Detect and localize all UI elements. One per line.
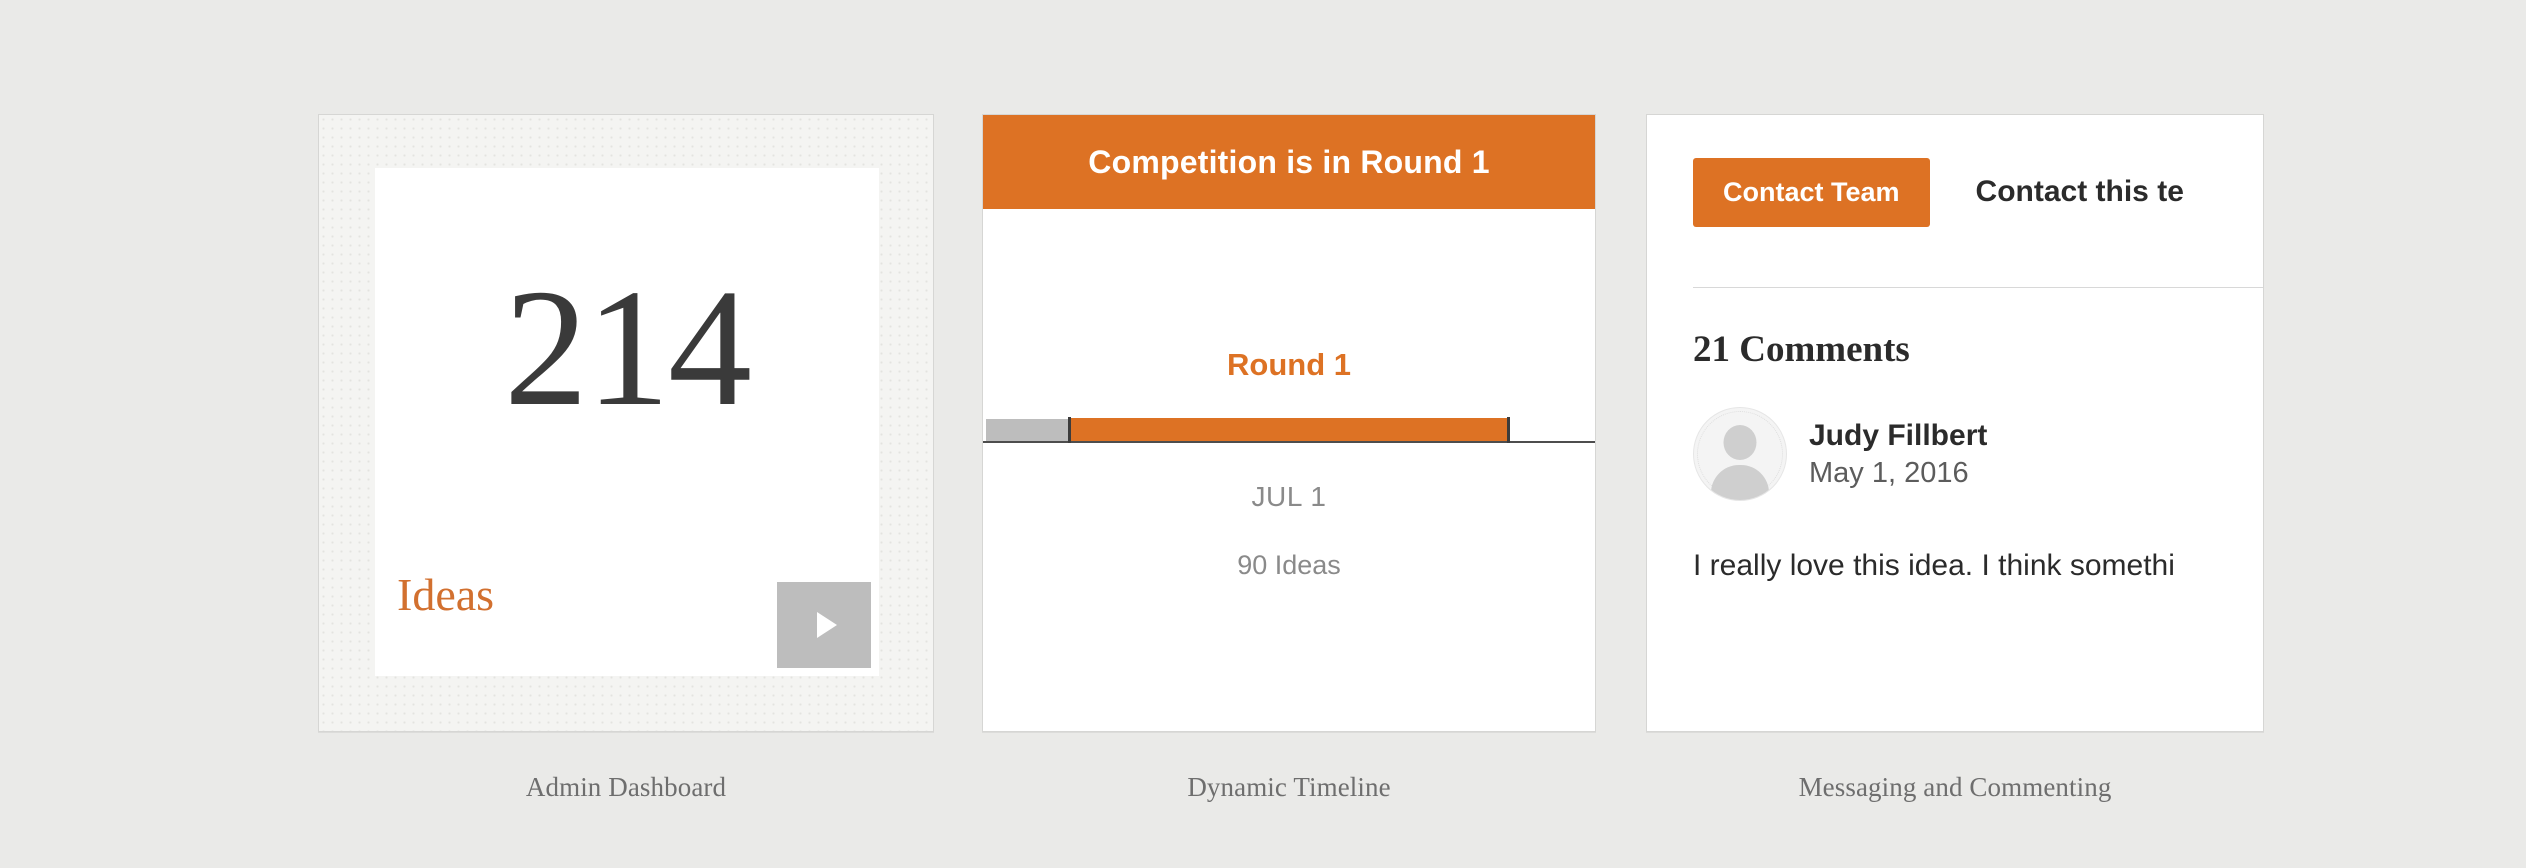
card-messaging-commenting[interactable]: Contact Team Contact this te 21 Comments… bbox=[1646, 114, 2264, 732]
admin-metric-panel: 214 Ideas bbox=[375, 168, 879, 676]
messaging-toolbar: Contact Team Contact this te bbox=[1647, 153, 2264, 231]
comment-author: Judy Fillbert bbox=[1809, 419, 1987, 453]
card-admin-dashboard[interactable]: 214 Ideas bbox=[318, 114, 934, 732]
contact-hint-text: Contact this te bbox=[1976, 175, 2184, 209]
timeline-tick-start bbox=[1068, 417, 1071, 443]
feature-card-gallery: 214 Ideas Admin Dashboard Competition is… bbox=[0, 0, 2526, 868]
timeline-tick-end bbox=[1507, 417, 1510, 443]
timeline-round-label: Round 1 bbox=[983, 347, 1595, 383]
timeline-segment-current bbox=[1069, 418, 1509, 441]
comments-count-heading: 21 Comments bbox=[1693, 328, 1910, 371]
caption-dynamic-timeline: Dynamic Timeline bbox=[982, 772, 1596, 803]
comment-meta: Judy Fillbert May 1, 2016 bbox=[1809, 419, 1987, 489]
avatar-head-icon bbox=[1724, 425, 1757, 460]
avatar bbox=[1693, 407, 1787, 501]
caption-messaging-commenting: Messaging and Commenting bbox=[1646, 772, 2264, 803]
play-triangle-icon bbox=[817, 612, 837, 638]
toolbar-divider bbox=[1693, 287, 2264, 288]
comment-text: I really love this idea. I think somethi bbox=[1693, 549, 2175, 583]
timeline-progress-bar[interactable] bbox=[983, 417, 1595, 447]
comment-item: Judy Fillbert May 1, 2016 bbox=[1693, 407, 1987, 501]
card-dynamic-timeline[interactable]: Competition is in Round 1 Round 1 JUL 1 … bbox=[982, 114, 1596, 732]
contact-team-button[interactable]: Contact Team bbox=[1693, 158, 1930, 227]
timeline-segment-past bbox=[986, 419, 1068, 441]
timeline-axis bbox=[983, 441, 1595, 443]
metric-value: 214 bbox=[375, 264, 879, 432]
timeline-date: JUL 1 bbox=[983, 481, 1595, 513]
caption-admin-dashboard: Admin Dashboard bbox=[318, 772, 934, 803]
timeline-header-banner: Competition is in Round 1 bbox=[983, 115, 1595, 209]
metric-label: Ideas bbox=[397, 572, 494, 618]
timeline-ideas-count: 90 Ideas bbox=[983, 550, 1595, 581]
play-icon[interactable] bbox=[777, 582, 871, 668]
comment-date: May 1, 2016 bbox=[1809, 457, 1987, 489]
